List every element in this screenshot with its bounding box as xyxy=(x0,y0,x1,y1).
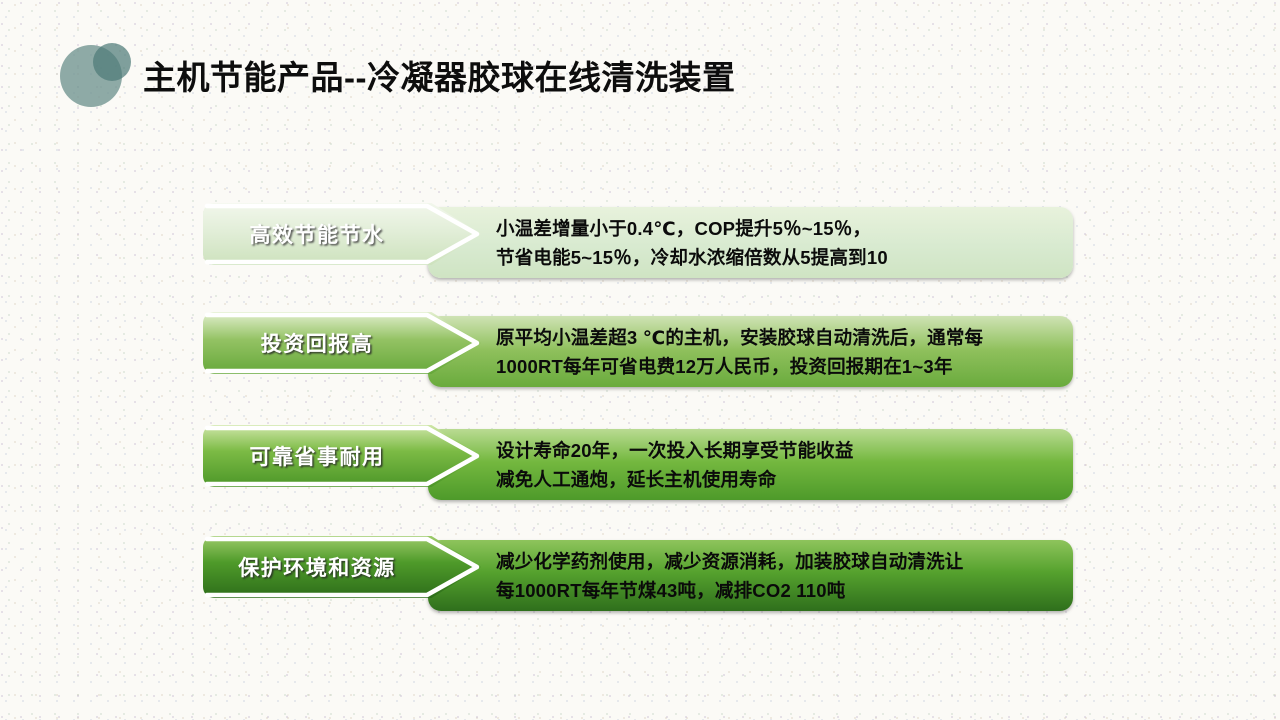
feature-body-panel: 原平均小温差超3 ℃的主机，安装胶球自动清洗后，通常每 1000RT每年可省电费… xyxy=(428,316,1073,387)
feature-body-text: 减少化学药剂使用，减少资源消耗，加装胶球自动清洗让 每1000RT每年节煤43吨… xyxy=(496,547,964,605)
feature-label-text: 高效节能节水 xyxy=(203,203,431,265)
feature-label-text: 保护环境和资源 xyxy=(203,536,431,598)
feature-row: 小温差增量小于0.4℃，COP提升5％~15％， 节省电能5~15％，冷却水浓缩… xyxy=(0,203,1280,278)
feature-body-text: 原平均小温差超3 ℃的主机，安装胶球自动清洗后，通常每 1000RT每年可省电费… xyxy=(496,323,983,381)
slide-canvas: 主机节能产品--冷凝器胶球在线清洗装置 小温差增量小于0.4℃，COP提升5％~… xyxy=(0,0,1280,720)
feature-body-panel: 减少化学药剂使用，减少资源消耗，加装胶球自动清洗让 每1000RT每年节煤43吨… xyxy=(428,540,1073,611)
feature-body-text: 小温差增量小于0.4℃，COP提升5％~15％， 节省电能5~15％，冷却水浓缩… xyxy=(496,214,888,272)
feature-row: 原平均小温差超3 ℃的主机，安装胶球自动清洗后，通常每 1000RT每年可省电费… xyxy=(0,312,1280,387)
page-title: 主机节能产品--冷凝器胶球在线清洗装置 xyxy=(143,56,735,100)
feature-label-chevron[interactable]: 投资回报高 xyxy=(203,312,481,374)
feature-label-text: 投资回报高 xyxy=(203,312,431,374)
decorative-circle-small-icon xyxy=(93,43,131,81)
feature-body-panel: 小温差增量小于0.4℃，COP提升5％~15％， 节省电能5~15％，冷却水浓缩… xyxy=(428,207,1073,278)
feature-row: 减少化学药剂使用，减少资源消耗，加装胶球自动清洗让 每1000RT每年节煤43吨… xyxy=(0,536,1280,611)
feature-row: 设计寿命20年，一次投入长期享受节能收益 减免人工通炮，延长主机使用寿命 可靠省… xyxy=(0,425,1280,500)
feature-body-text: 设计寿命20年，一次投入长期享受节能收益 减免人工通炮，延长主机使用寿命 xyxy=(496,436,854,494)
feature-label-chevron[interactable]: 高效节能节水 xyxy=(203,203,481,265)
feature-label-chevron[interactable]: 可靠省事耐用 xyxy=(203,425,481,487)
feature-body-panel: 设计寿命20年，一次投入长期享受节能收益 减免人工通炮，延长主机使用寿命 xyxy=(428,429,1073,500)
slide-header: 主机节能产品--冷凝器胶球在线清洗装置 xyxy=(0,0,1280,135)
feature-label-text: 可靠省事耐用 xyxy=(203,425,431,487)
feature-label-chevron[interactable]: 保护环境和资源 xyxy=(203,536,481,598)
